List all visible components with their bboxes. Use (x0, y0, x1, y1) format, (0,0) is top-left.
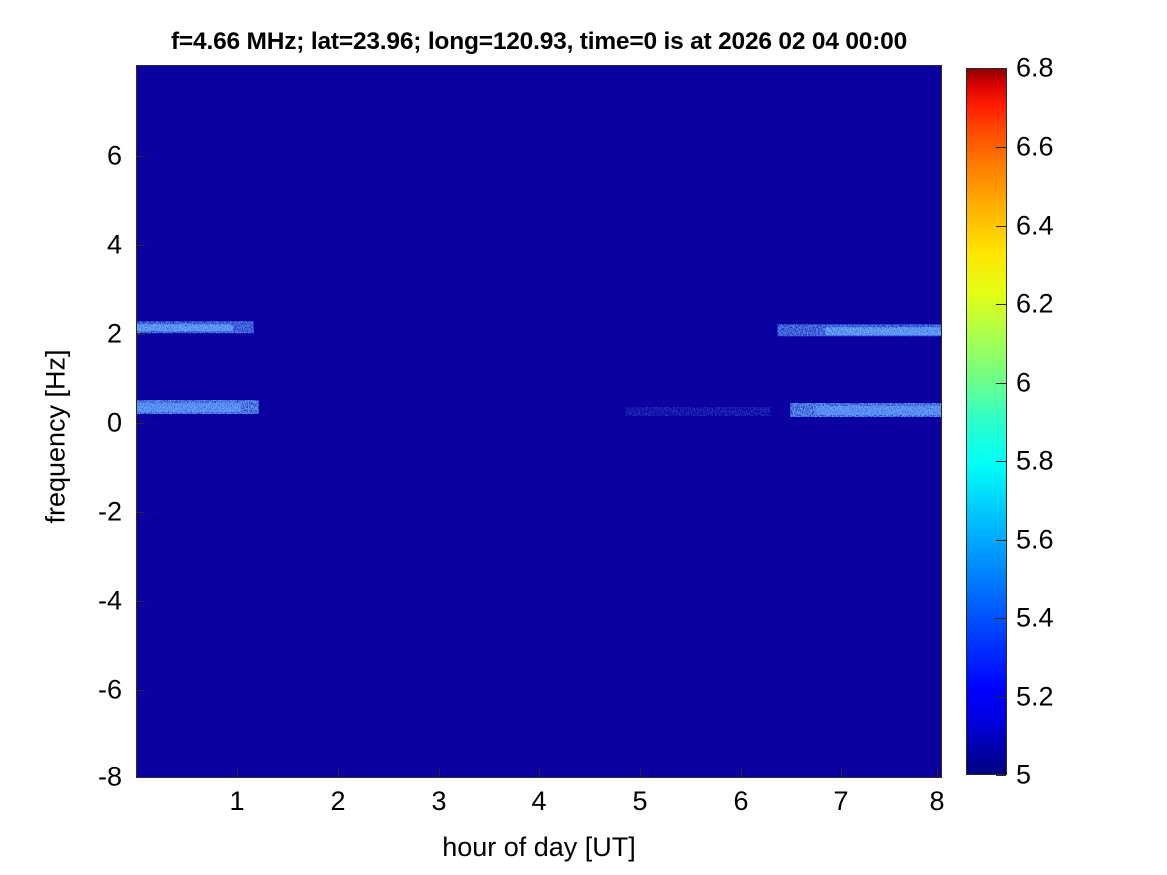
trace-lower-mid (626, 407, 771, 416)
y-tick-mark (136, 601, 145, 602)
colorbar-label-6-4: 6.4 (1016, 211, 1054, 242)
y-axis-label: frequency [Hz] (41, 107, 72, 767)
trace-upper-early (137, 321, 254, 333)
heatmap-image (137, 66, 941, 777)
colorbar-tick-mark (996, 147, 1006, 148)
x-tick-mark (439, 769, 440, 778)
trace-lower-late (790, 403, 941, 417)
x-tick-mark (237, 769, 238, 778)
y-tick-mark (136, 334, 145, 335)
x-tick-label-2: 2 (298, 786, 378, 817)
colorbar-label-5-6: 5.6 (1016, 525, 1054, 556)
colorbar-tick-mark (996, 540, 1006, 541)
y-tick-mark (136, 690, 145, 691)
x-tick-label-3: 3 (399, 786, 479, 817)
x-tick-label-5: 5 (600, 786, 680, 817)
x-tick-label-6: 6 (701, 786, 781, 817)
colorbar-label-6-2: 6.2 (1016, 289, 1054, 320)
colorbar-label-6-8: 6.8 (1016, 53, 1054, 84)
x-tick-mark (539, 769, 540, 778)
colorbar[interactable] (966, 68, 1007, 775)
y-tick-mark (136, 245, 145, 246)
colorbar-tick-mark (996, 68, 1006, 69)
colorbar-tick-mark (996, 697, 1006, 698)
colorbar-tick-mark (996, 304, 1006, 305)
heatmap-background (137, 66, 941, 777)
x-tick-label-8: 8 (897, 786, 977, 817)
colorbar-label-6-6: 6.6 (1016, 132, 1054, 163)
heatmap-axes[interactable] (136, 65, 942, 778)
colorbar-tick-mark (996, 383, 1006, 384)
trace-upper-late (777, 324, 941, 336)
trace-lower-early (137, 400, 259, 414)
x-tick-mark (640, 769, 641, 778)
colorbar-tick-mark (996, 461, 1006, 462)
y-tick-mark (136, 423, 145, 424)
y-tick-mark (136, 512, 145, 513)
x-tick-mark (338, 769, 339, 778)
x-tick-mark (841, 769, 842, 778)
colorbar-tick-mark (996, 775, 1006, 776)
colorbar-tick-mark (996, 618, 1006, 619)
x-tick-label-1: 1 (197, 786, 277, 817)
page-title: f=4.66 MHz; lat=23.96; long=120.93, time… (136, 28, 942, 56)
x-axis-label: hour of day [UT] (136, 832, 942, 863)
colorbar-label-6: 6 (1016, 368, 1031, 399)
x-tick-mark (741, 769, 742, 778)
x-tick-label-7: 7 (801, 786, 881, 817)
colorbar-label-5-4: 5.4 (1016, 603, 1054, 634)
colorbar-label-5: 5 (1016, 760, 1031, 791)
y-tick-mark (136, 777, 145, 778)
colorbar-tick-mark (996, 226, 1006, 227)
colorbar-label-5-2: 5.2 (1016, 682, 1054, 713)
y-tick-mark (136, 156, 145, 157)
colorbar-label-5-8: 5.8 (1016, 446, 1054, 477)
x-tick-label-4: 4 (499, 786, 579, 817)
x-tick-mark (937, 769, 938, 778)
figure-canvas: f=4.66 MHz; lat=23.96; long=120.93, time… (0, 0, 1167, 875)
